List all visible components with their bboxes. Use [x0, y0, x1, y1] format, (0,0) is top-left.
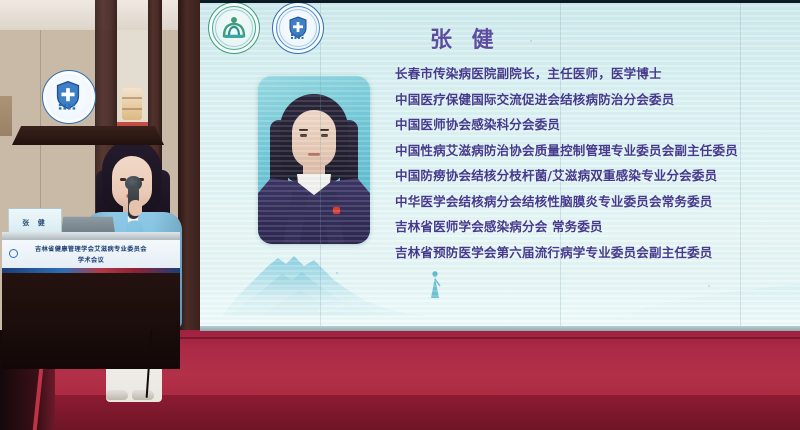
podium-blue-shield-emblem-icon [42, 70, 96, 124]
banner-emblem-icon [9, 249, 18, 258]
speaking-podium: 吉林省健康管理学会艾滋病专业委员会 学术会议 [2, 232, 180, 377]
credential-line: 中国防痨协会结核分枝杆菌/艾滋病双重感染专业分会委员 [395, 170, 738, 183]
organization-logos [208, 2, 324, 54]
screen-bezel-top [200, 0, 800, 3]
desk-name-card-text: 张 健 [22, 218, 47, 228]
speaker-name: 张 健 [430, 22, 738, 54]
blue-shield-emblem-icon [272, 2, 324, 54]
artwork-speck [336, 272, 338, 274]
red-lapel-pin-icon [333, 207, 340, 214]
credential-line: 吉林省预防医学会第六届流行病学专业委员会副主任委员 [395, 247, 738, 260]
lantern-light [122, 88, 142, 120]
credential-line: 吉林省医师学会感染病分会 常务委员 [395, 221, 738, 234]
credential-line: 长春市传染病医院副院长，主任医师，医学博士 [395, 68, 738, 81]
ink-wash-figure [428, 270, 442, 300]
conference-photo-scene: 张 健 长春市传染病医院副院长，主任医师，医学博士 中国医疗保健国际交流促进会结… [0, 0, 800, 430]
credential-line: 中华医学会结核病分会结核性脑膜炎专业委员会常务委员 [395, 196, 738, 209]
slide-text-block: 张 健 长春市传染病医院副院长，主任医师，医学博士 中国医疗保健国际交流促进会结… [395, 22, 738, 272]
credential-line: 中国医师协会感染科分会委员 [395, 119, 738, 132]
podium-body [2, 273, 180, 369]
credential-line: 中国性病艾滋病防治协会质量控制管理专业委员会副主任委员 [395, 145, 738, 158]
podium-base [12, 126, 164, 145]
banner-title-line-2: 学术会议 [78, 255, 104, 264]
banner-title-line-1: 吉林省健康管理学会艾滋病专业委员会 [35, 244, 147, 253]
artwork-speck [708, 285, 710, 287]
screen-bezel-bottom [200, 326, 800, 331]
wall-shelf [0, 96, 12, 136]
speaker-portrait-photo [258, 76, 370, 244]
green-society-emblem-icon [208, 2, 260, 54]
credential-line: 中国医疗保健国际交流促进会结核病防治分会委员 [395, 94, 738, 107]
led-presentation-screen: 张 健 长春市传染病医院副院长，主任医师，医学博士 中国医疗保健国际交流促进会结… [200, 0, 800, 330]
podium-banner: 吉林省健康管理学会艾滋病专业委员会 学术会议 [2, 240, 180, 268]
podium-top-surface [2, 232, 180, 240]
